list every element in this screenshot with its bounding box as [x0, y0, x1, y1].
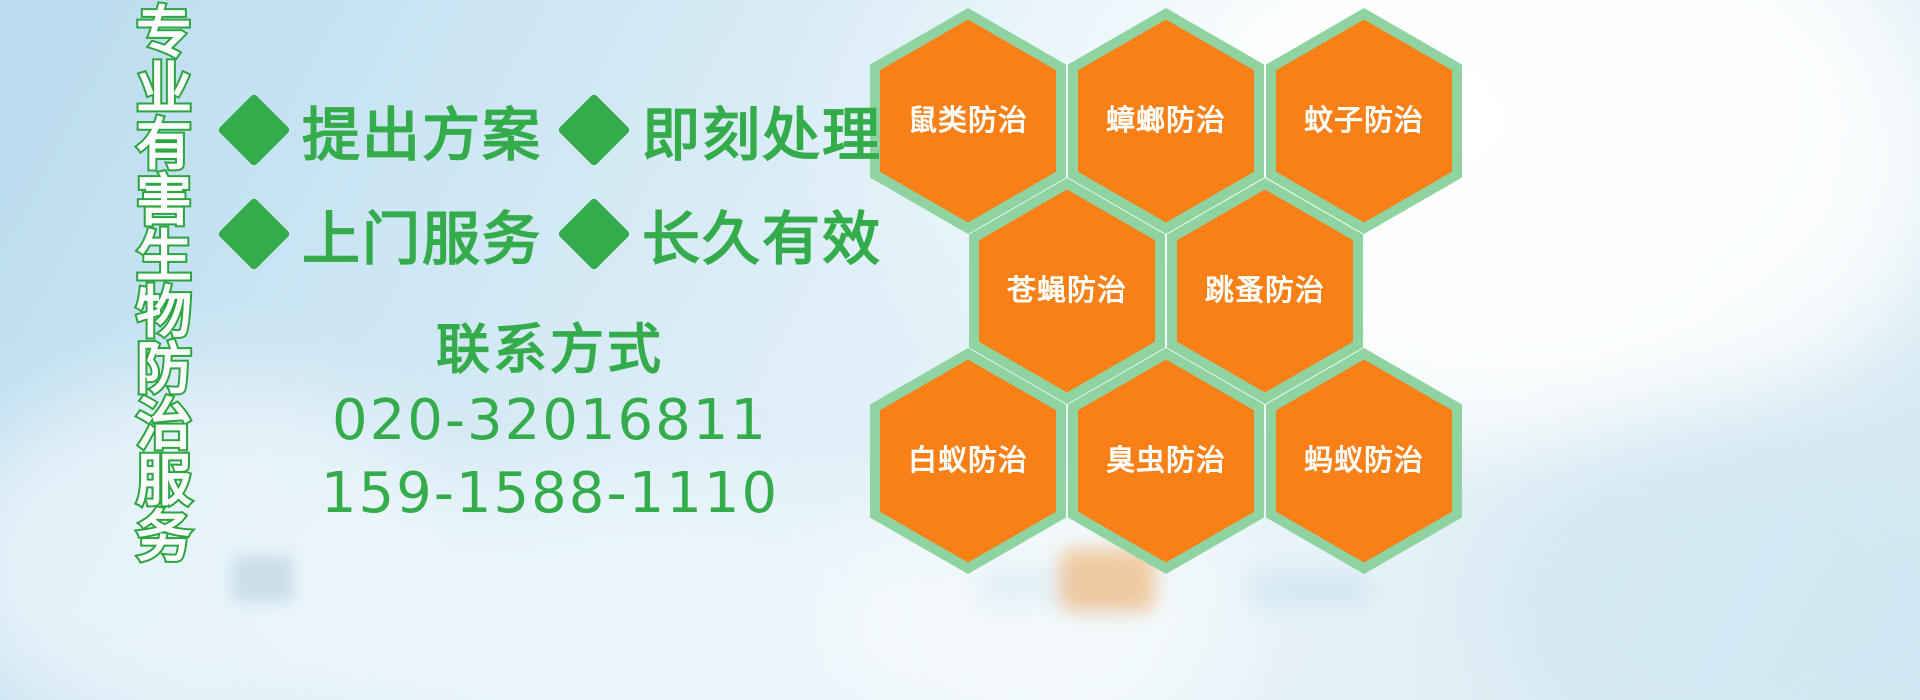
- diamond-icon: [557, 197, 631, 271]
- contact-block: 联系方式 020-32016811 159-1588-1110: [300, 316, 800, 531]
- diamond-icon: [557, 93, 631, 167]
- service-honeycomb: 鼠类防治 蟑螂防治 蚊子防治 苍蝇防治 跳蚤防治 白蚁防治: [856, 0, 1476, 700]
- service-label: 跳蚤防治: [1205, 275, 1325, 307]
- service-label: 蟑螂防治: [1106, 105, 1226, 137]
- headline-char: 治: [136, 398, 192, 454]
- feature-label: 上门服务: [302, 192, 542, 276]
- headline-char: 有: [136, 118, 192, 174]
- headline-char: 害: [136, 174, 192, 230]
- vertical-headline: 专 业 有 害 生 物 防 治 服 务: [112, 6, 216, 566]
- service-label: 苍蝇防治: [1007, 275, 1127, 307]
- headline-char: 务: [136, 510, 192, 566]
- hex-inner: 蚊子防治: [1276, 20, 1452, 223]
- service-label: 蚊子防治: [1304, 105, 1424, 137]
- contact-title: 联系方式: [300, 316, 800, 384]
- headline-char: 生: [136, 230, 192, 286]
- background-haze: [1480, 420, 1920, 700]
- hex-inner: 苍蝇防治: [979, 190, 1155, 393]
- feature-label: 即刻处理: [642, 88, 882, 172]
- hex-inner: 蟑螂防治: [1078, 20, 1254, 223]
- pest-control-banner: 专 业 有 害 生 物 防 治 服 务 提出方案 即刻处理 上门服务 长久有效 …: [0, 0, 1920, 700]
- hex-inner: 跳蚤防治: [1177, 190, 1353, 393]
- feature-row-2: 上门服务 长久有效: [228, 192, 908, 276]
- service-label: 臭虫防治: [1106, 445, 1226, 477]
- feature-label: 长久有效: [642, 192, 882, 276]
- diamond-icon: [217, 197, 291, 271]
- service-label: 鼠类防治: [908, 105, 1028, 137]
- headline-char: 服: [136, 454, 192, 510]
- feature-row-1: 提出方案 即刻处理: [228, 88, 908, 172]
- hex-inner: 蚂蚁防治: [1276, 360, 1452, 563]
- service-label: 白蚁防治: [908, 445, 1028, 477]
- headline-char: 物: [136, 286, 192, 342]
- service-label: 蚂蚁防治: [1304, 445, 1424, 477]
- headline-char: 防: [136, 342, 192, 398]
- headline-char: 业: [136, 62, 192, 118]
- headline-char: 专: [136, 6, 192, 62]
- phone-number-mobile[interactable]: 159-1588-1110: [300, 457, 800, 531]
- feature-label: 提出方案: [302, 88, 542, 172]
- hex-inner: 白蚁防治: [880, 360, 1056, 563]
- hex-inner: 臭虫防治: [1078, 360, 1254, 563]
- diamond-icon: [217, 93, 291, 167]
- background-artifact: [232, 556, 294, 602]
- phone-number-landline[interactable]: 020-32016811: [300, 384, 800, 458]
